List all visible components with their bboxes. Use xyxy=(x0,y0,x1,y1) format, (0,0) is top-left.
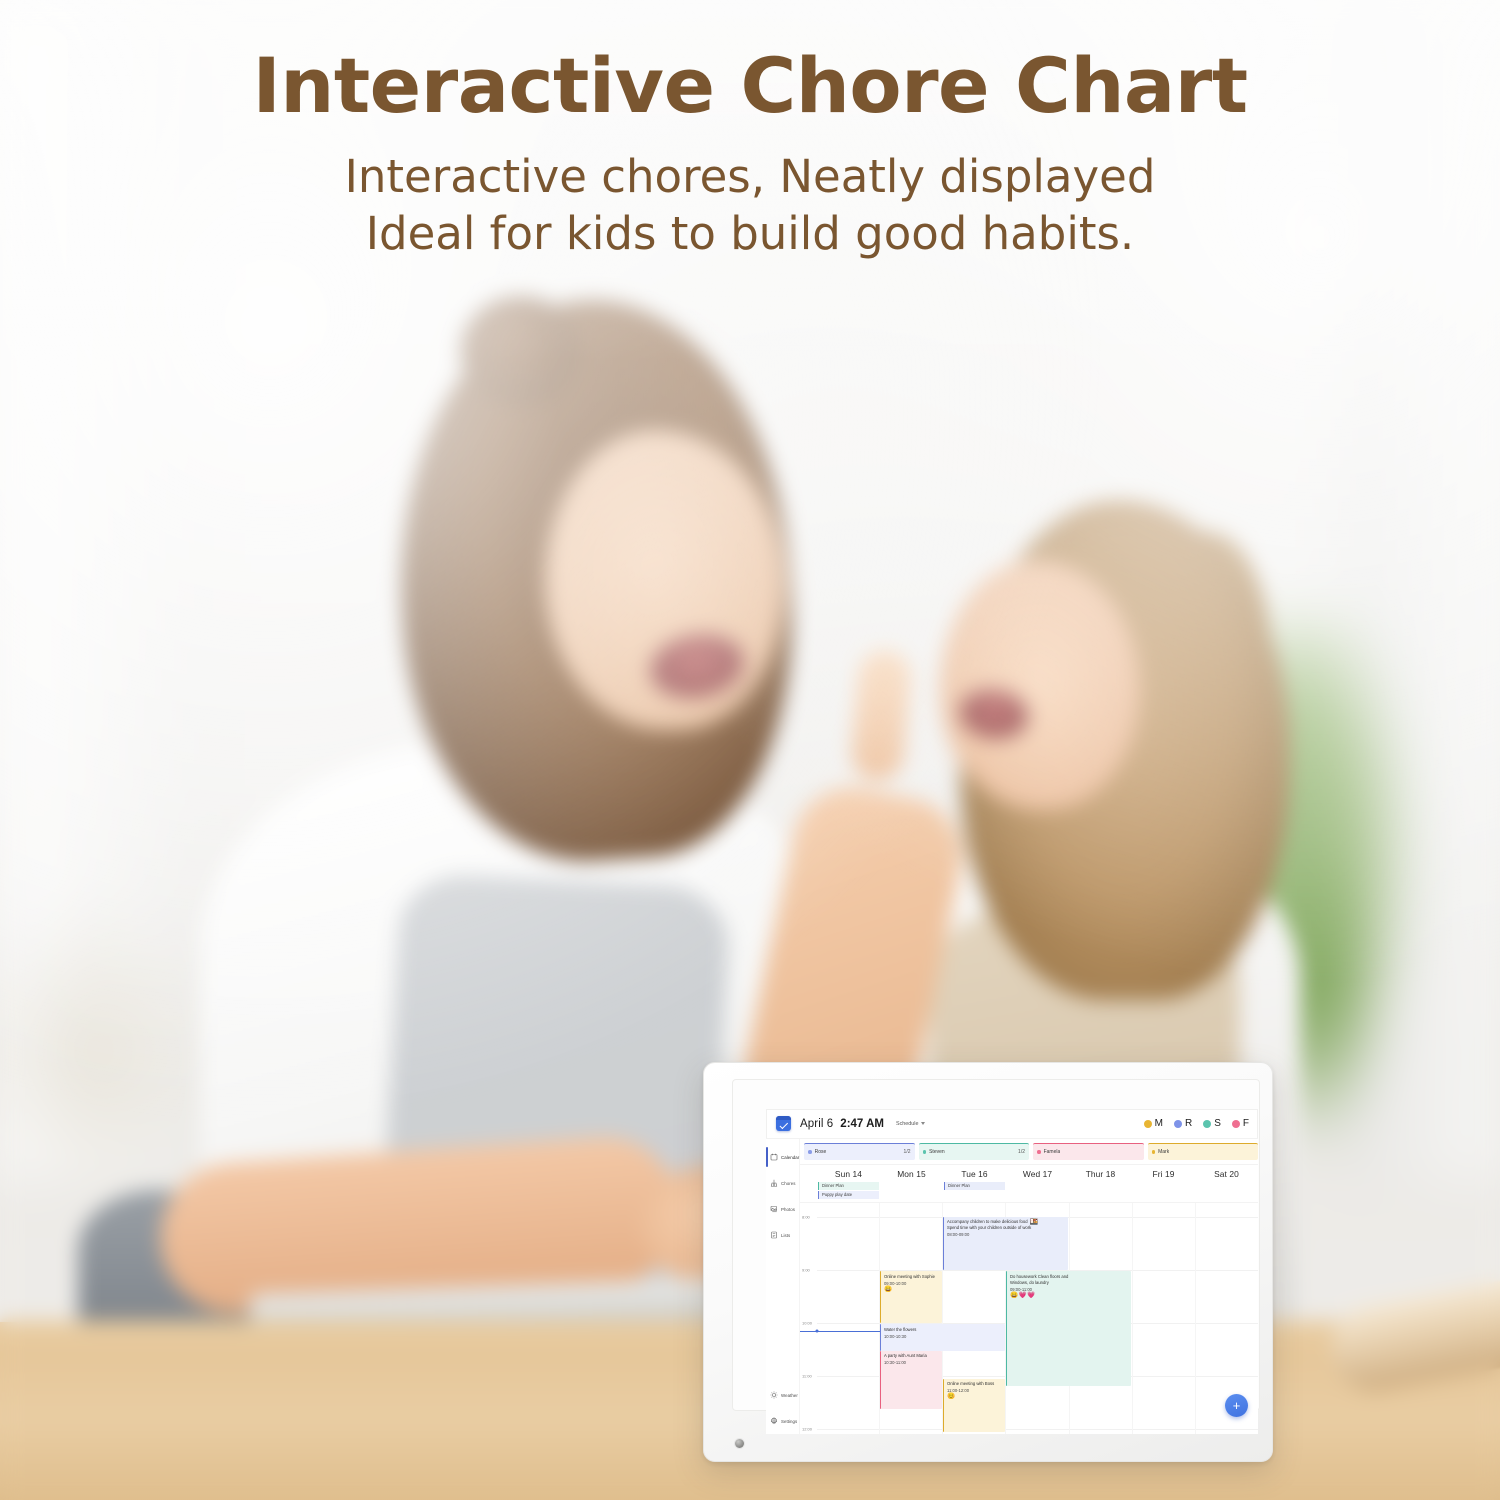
day-header[interactable]: Tue 16 xyxy=(943,1165,1006,1182)
member-chip-famela[interactable]: Famela xyxy=(1033,1143,1144,1160)
time-tick: 10:00 xyxy=(802,1321,812,1326)
avatar-group: M R S F xyxy=(1144,1118,1249,1129)
member-name-wrap: Famela xyxy=(1037,1149,1060,1155)
event-subtitle: Windows, do laundry xyxy=(1010,1280,1128,1286)
sidebar-item-lists-label: Lists xyxy=(781,1233,790,1238)
day-header[interactable]: Thur 18 xyxy=(1069,1165,1132,1182)
event-title: Online meeting with Boss xyxy=(947,1381,1002,1387)
tablet-camera-icon xyxy=(735,1439,744,1448)
time-tick: 11:00 xyxy=(802,1374,812,1379)
member-name-wrap: Rose xyxy=(808,1149,826,1155)
pointing-finger xyxy=(849,648,912,782)
avatar-dot xyxy=(1203,1120,1211,1128)
sidebar: Calendar Chores xyxy=(766,1139,800,1434)
view-mode-dropdown[interactable]: Schedule xyxy=(896,1121,925,1127)
member-chip-row: Rose 1/2 Steven 1/2 Fa xyxy=(800,1139,1258,1164)
day-header[interactable]: Wed 17 xyxy=(1006,1165,1069,1182)
member-chip-rose[interactable]: Rose 1/2 xyxy=(804,1143,915,1160)
mother-hair-bun xyxy=(460,296,580,406)
time-grid[interactable]: 8:00 9:00 10:00 11:00 12:00 xyxy=(800,1202,1258,1434)
chores-broom-icon xyxy=(770,1179,778,1187)
event-time: 10:00-10:30 xyxy=(884,1334,1002,1340)
sidebar-item-calendar-label: Calendar xyxy=(781,1155,799,1160)
sidebar-item-chores-label: Chores xyxy=(781,1181,795,1186)
member-dot xyxy=(923,1150,927,1154)
all-day-event[interactable]: Puppy play date xyxy=(818,1191,879,1199)
time-tick: 8:00 xyxy=(802,1214,810,1219)
all-day-event[interactable]: Dinner Plan xyxy=(818,1182,879,1190)
lists-icon xyxy=(770,1231,778,1239)
event-emoji: 😄 xyxy=(884,1286,893,1293)
member-name: Mark xyxy=(1158,1149,1169,1155)
day-header[interactable]: Sat 20 xyxy=(1195,1165,1258,1182)
all-day-column xyxy=(880,1182,943,1202)
gear-icon xyxy=(770,1417,778,1425)
day-header[interactable]: Mon 15 xyxy=(880,1165,943,1182)
avatar-letter: R xyxy=(1185,1118,1192,1129)
promo-header: Interactive Chore Chart Interactive chor… xyxy=(0,0,1500,290)
event-emoji: 🍱 xyxy=(1030,1219,1039,1226)
current-date: April 6 xyxy=(800,1118,833,1130)
sidebar-spacer xyxy=(766,1248,799,1382)
member-dot xyxy=(1152,1150,1156,1154)
sidebar-item-settings[interactable]: Settings xyxy=(766,1408,799,1434)
sidebar-item-lists[interactable]: Lists xyxy=(766,1222,799,1248)
avatar-letter: S xyxy=(1214,1118,1221,1129)
promo-subtitle-line1: Interactive chores, Neatly displayed xyxy=(345,150,1156,203)
app-body: Calendar Chores xyxy=(766,1139,1258,1434)
member-name-wrap: Mark xyxy=(1152,1149,1170,1155)
avatar-letter: M xyxy=(1155,1118,1163,1129)
weather-sun-icon xyxy=(770,1391,778,1399)
calendar-pane: Rose 1/2 Steven 1/2 Fa xyxy=(800,1139,1258,1434)
day-header-row: Sun 14 Mon 15 Tue 16 Wed 17 Thur 18 Fri … xyxy=(800,1164,1258,1182)
avatar[interactable]: R xyxy=(1174,1118,1192,1129)
sidebar-item-weather[interactable]: Weather xyxy=(766,1382,799,1408)
member-name: Rose xyxy=(815,1149,827,1155)
day-header[interactable]: Sun 14 xyxy=(817,1165,880,1182)
promo-subtitle-line2: Ideal for kids to build good habits. xyxy=(366,207,1134,260)
current-time: 2:47 AM xyxy=(840,1118,884,1130)
day-header[interactable]: Fri 19 xyxy=(1132,1165,1195,1182)
sidebar-item-weather-label: Weather xyxy=(781,1393,798,1398)
sidebar-item-chores[interactable]: Chores xyxy=(766,1170,799,1196)
calendar-event[interactable]: Online meeting with Sophie 09:00-10:00 😄 xyxy=(880,1271,942,1323)
events-layer: Accompany children to make delicious foo… xyxy=(817,1203,1258,1434)
avatar-dot xyxy=(1144,1120,1152,1128)
all-day-column xyxy=(1069,1182,1132,1202)
avatar-dot xyxy=(1174,1120,1182,1128)
sidebar-item-calendar[interactable]: Calendar xyxy=(766,1144,799,1170)
member-chip-steven[interactable]: Steven 1/2 xyxy=(919,1143,1030,1160)
all-day-column xyxy=(1006,1182,1069,1202)
member-name-wrap: Steven xyxy=(923,1149,945,1155)
time-gutter: 8:00 9:00 10:00 11:00 12:00 xyxy=(800,1203,817,1434)
promo-subtitle: Interactive chores, Neatly displayed Ide… xyxy=(0,148,1500,262)
promo-title: Interactive Chore Chart xyxy=(0,46,1500,126)
event-emoji: 😄💗💗 xyxy=(1010,1292,1036,1299)
calendar-event[interactable]: A party with Aunt Maria 10:30-11:00 xyxy=(880,1351,942,1409)
tablet-device: April 6 2:47 AM Schedule M R S xyxy=(703,1062,1273,1462)
event-title: Online meeting with Sophie xyxy=(884,1274,939,1280)
all-day-column xyxy=(1132,1182,1195,1202)
calendar-event[interactable]: Do housework Clean floors and Windows, d… xyxy=(1006,1271,1131,1385)
avatar[interactable]: S xyxy=(1203,1118,1221,1129)
time-tick: 12:00 xyxy=(802,1427,812,1432)
calendar-event[interactable]: Online meeting with Boss 11:00-12:00 😊 xyxy=(943,1379,1005,1432)
event-title: Water the flowers xyxy=(884,1327,1002,1333)
member-dot xyxy=(1037,1150,1041,1154)
avatar-dot xyxy=(1232,1120,1240,1128)
sidebar-item-photos[interactable]: Photos xyxy=(766,1196,799,1222)
chevron-down-icon xyxy=(921,1122,925,1125)
all-day-row: Dinner Plan Puppy play date Dinner Plan xyxy=(800,1182,1258,1202)
app-logo xyxy=(766,1116,800,1131)
event-time: 10:30-11:00 xyxy=(884,1360,939,1366)
all-day-column: Dinner Plan Puppy play date xyxy=(817,1182,880,1202)
app-topbar: April 6 2:47 AM Schedule M R S xyxy=(766,1109,1258,1139)
background-object-left xyxy=(0,900,210,1200)
calendar-icon xyxy=(770,1153,778,1161)
member-dot xyxy=(808,1150,812,1154)
calendar-event[interactable]: Accompany children to make delicious foo… xyxy=(943,1217,1068,1270)
all-day-column xyxy=(1195,1182,1258,1202)
sidebar-item-settings-label: Settings xyxy=(781,1419,797,1424)
all-day-column: Dinner Plan xyxy=(943,1182,1006,1202)
avatar[interactable]: M xyxy=(1144,1118,1163,1129)
calendar-check-icon xyxy=(776,1116,791,1131)
tablet-screen: April 6 2:47 AM Schedule M R S xyxy=(766,1109,1258,1434)
photos-icon xyxy=(770,1205,778,1213)
event-subtitle: Spend time with your children outside of… xyxy=(947,1225,1065,1231)
member-progress: 1/2 xyxy=(1018,1149,1025,1155)
all-day-event[interactable]: Dinner Plan xyxy=(944,1182,1005,1190)
avatar-letter: F xyxy=(1243,1118,1249,1129)
avatar[interactable]: F xyxy=(1232,1118,1249,1129)
event-time: 08:00-09:00 xyxy=(947,1232,1065,1238)
member-progress: 1/2 xyxy=(904,1149,911,1155)
member-chip-mark[interactable]: Mark xyxy=(1148,1143,1259,1160)
view-mode-label: Schedule xyxy=(896,1121,918,1127)
event-emoji: 😊 xyxy=(947,1393,956,1400)
event-title: A party with Aunt Maria xyxy=(884,1353,939,1359)
sidebar-item-photos-label: Photos xyxy=(781,1207,795,1212)
member-name: Steven xyxy=(929,1149,945,1155)
add-event-button[interactable]: + xyxy=(1225,1394,1248,1417)
calendar-event[interactable]: Water the flowers 10:00-10:30 xyxy=(880,1324,1005,1351)
member-name: Famela xyxy=(1044,1149,1061,1155)
time-tick: 9:00 xyxy=(802,1267,810,1272)
